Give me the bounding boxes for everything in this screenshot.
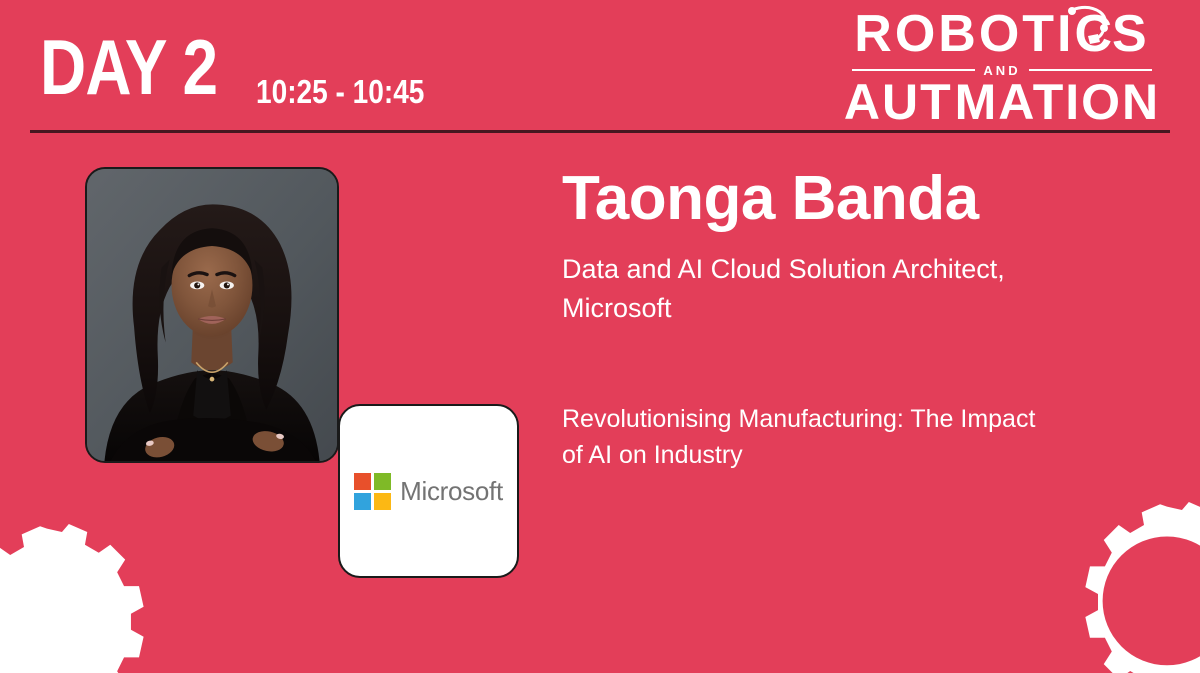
microsoft-logo-squares (354, 473, 391, 510)
logo-text-automation-part1: AUT (844, 77, 953, 127)
speaker-role: Data and AI Cloud Solution Architect, Mi… (562, 250, 1062, 328)
company-logo-card: Microsoft (338, 404, 519, 578)
gear-icon-bottom-right (1052, 502, 1200, 673)
square-bottom-left-icon (354, 493, 371, 510)
logo-line-robotics: ROBOTICS (852, 8, 1152, 60)
speaker-photo (85, 167, 339, 463)
logo-line-automation: AUT MATION (852, 79, 1152, 125)
logo-rule-right (1029, 69, 1152, 71)
logo-text-robotics: ROBOTICS (854, 8, 1149, 60)
square-top-right-icon (374, 473, 391, 490)
day-label: DAY 2 (40, 28, 217, 106)
talk-title: Revolutionising Manufacturing: The Impac… (562, 402, 1062, 473)
microsoft-wordmark: Microsoft (400, 476, 503, 507)
gear-icon-bottom-left (0, 524, 162, 673)
speaker-slide: DAY 2 10:25 - 10:45 ROBOTICS AND AUT (0, 0, 1200, 673)
square-top-left-icon (354, 473, 371, 490)
session-time-label: 10:25 - 10:45 (256, 75, 424, 108)
speaker-name: Taonga Banda (562, 166, 979, 233)
logo-text-automation-part2: MATION (955, 77, 1160, 127)
event-logo: ROBOTICS AND AUT (852, 8, 1152, 123)
logo-rule-left (852, 69, 975, 71)
header-divider (30, 130, 1170, 133)
square-bottom-right-icon (374, 493, 391, 510)
microsoft-logo: Microsoft (354, 473, 503, 510)
speaker-headshot-image (87, 169, 337, 461)
